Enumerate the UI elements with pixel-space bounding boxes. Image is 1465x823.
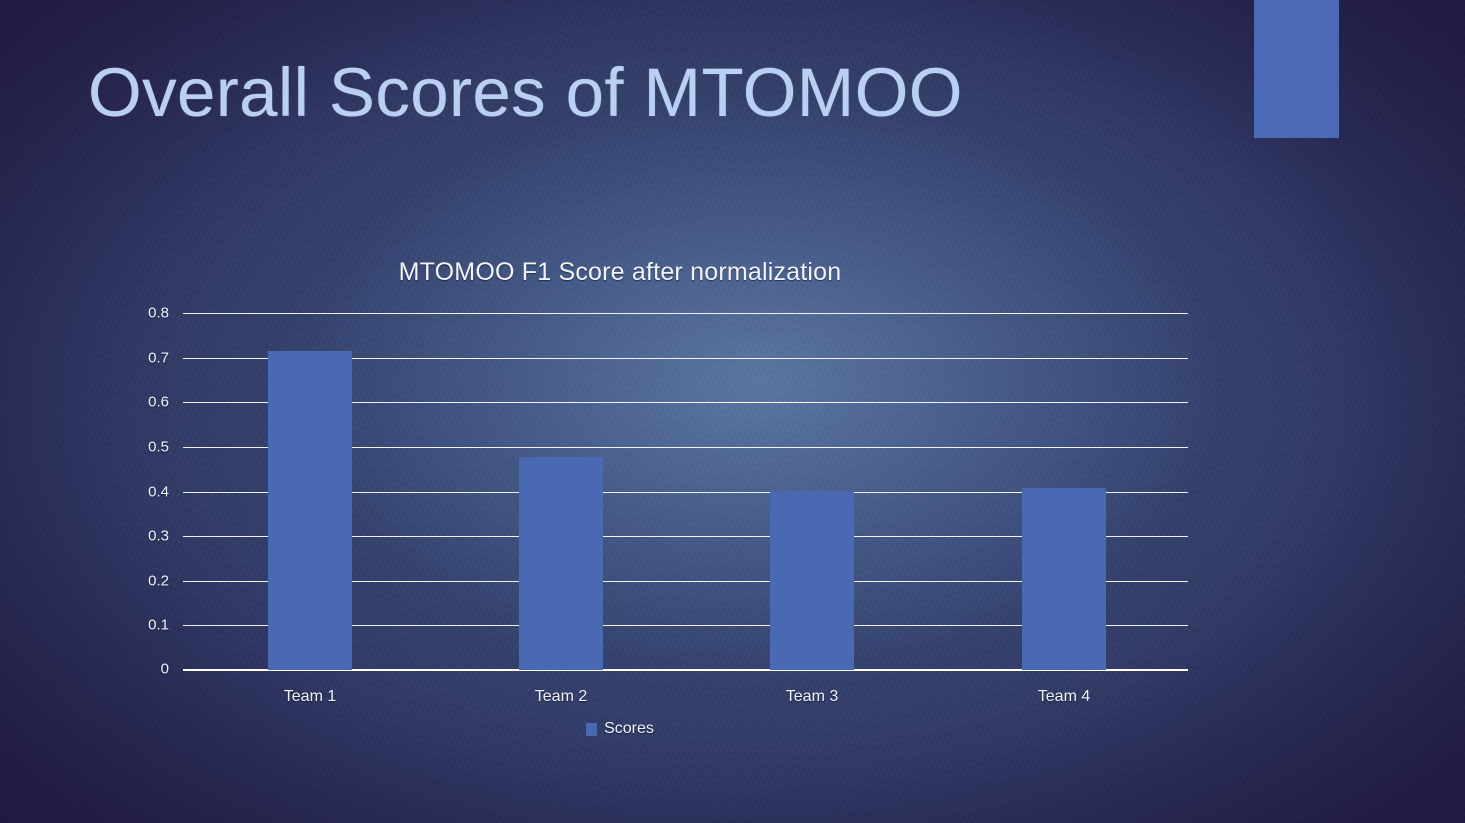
x-axis-tick-label: Team 1 <box>284 688 336 706</box>
x-axis-tick-label: Team 2 <box>535 688 587 706</box>
y-axis-tick-label: 0.4 <box>148 483 169 500</box>
x-axis-tick-label: Team 3 <box>786 688 838 706</box>
presentation-slide: Overall Scores of MTOMOO MTOMOO F1 Score… <box>0 0 1465 823</box>
y-axis-tick-label: 0.7 <box>148 349 169 366</box>
bar-team-1[interactable] <box>268 351 352 670</box>
y-axis-tick-label: 0.3 <box>148 528 169 545</box>
y-axis-tick-label: 0.1 <box>148 617 169 634</box>
bar-team-2[interactable] <box>519 457 603 670</box>
y-axis-tick-label: 0.5 <box>148 438 169 455</box>
x-axis-tick-label: Team 4 <box>1038 688 1090 706</box>
y-axis-tick-label: 0.6 <box>148 394 169 411</box>
y-axis-tick-label: 0.8 <box>148 305 169 322</box>
bar-team-4[interactable] <box>1022 488 1106 670</box>
y-axis-tick-label: 0.2 <box>148 572 169 589</box>
y-axis-tick-label: 0 <box>161 661 169 678</box>
gridline-0.8 <box>183 313 1188 314</box>
bar-team-3[interactable] <box>770 491 854 670</box>
legend-swatch-scores <box>586 723 597 736</box>
legend-label-scores: Scores <box>604 720 654 738</box>
chart-title: MTOMOO F1 Score after normalization <box>0 258 1240 287</box>
decorative-rectangle <box>1254 0 1339 138</box>
chart-legend: Scores <box>0 720 1240 738</box>
plot-area: 0.8 0.7 0.6 0.5 0.4 0.3 0.2 0.1 0 Team 1… <box>183 313 1188 670</box>
page-title: Overall Scores of MTOMOO <box>88 58 963 127</box>
bar-chart: MTOMOO F1 Score after normalization 0.8 … <box>0 250 1465 760</box>
